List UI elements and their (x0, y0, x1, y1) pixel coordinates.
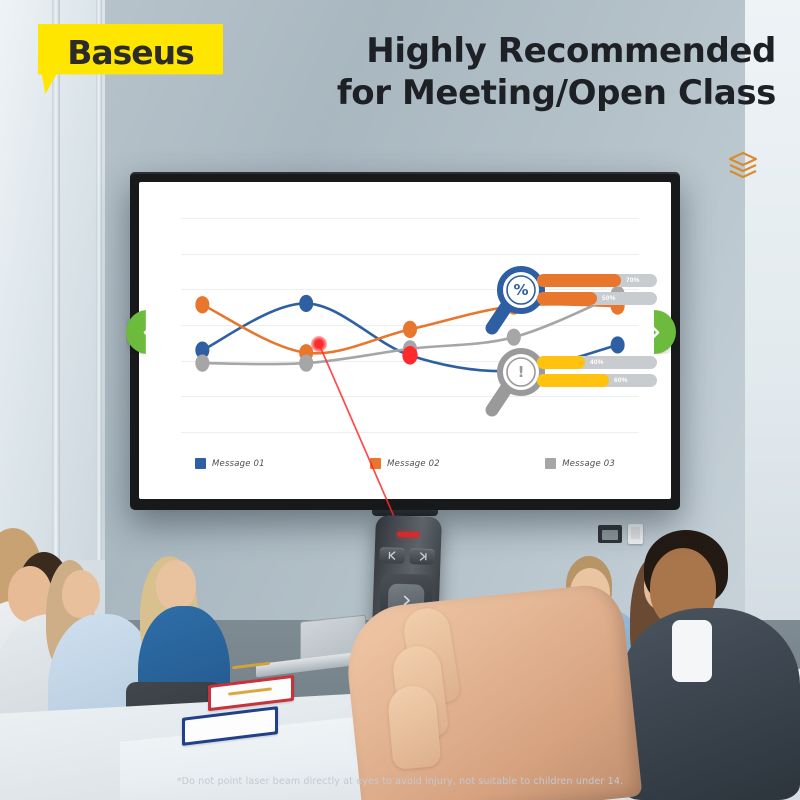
window-mullion-a (52, 0, 60, 560)
legend-label: Message 02 (387, 459, 440, 469)
wall-light-switch (628, 524, 643, 544)
legend-label: Message 01 (212, 459, 265, 469)
legend-swatch (195, 458, 206, 469)
display-screen: Message 01Message 02Message 03 %70%50%!4… (139, 182, 671, 499)
headline-line-2: for Meeting/Open Class (256, 72, 776, 114)
laser-target-dot (311, 336, 327, 352)
progress-bar-group: 40%60% (537, 356, 657, 392)
progress-bar-label: 50% (602, 292, 616, 305)
chart-legend: Message 01Message 02Message 03 (187, 458, 631, 469)
magnifier-inner-glyph: % (507, 274, 535, 306)
progress-bar-track: 50% (537, 292, 657, 305)
legend-item[interactable]: Message 02 (370, 458, 440, 469)
progress-bar-group: 70%50% (537, 274, 657, 310)
chart-data-point (403, 321, 417, 338)
head (62, 570, 100, 618)
progress-bar-fill (537, 274, 621, 287)
progress-bar-label: 60% (614, 374, 628, 387)
legend-swatch (545, 458, 556, 469)
presentation-slide: Message 01Message 02Message 03 %70%50%!4… (139, 182, 671, 499)
chart-data-point (299, 295, 313, 312)
progress-bar-fill (537, 292, 597, 305)
progress-bar-fill (537, 374, 609, 387)
ring-finger (387, 684, 442, 770)
progress-bar-label: 70% (626, 274, 640, 287)
progress-bar-fill (537, 356, 585, 369)
prev-slide-button[interactable] (379, 547, 405, 564)
progress-bar-label: 40% (590, 356, 604, 369)
magnifier-inner-glyph: ! (507, 356, 535, 388)
prev-icon (386, 551, 398, 560)
stats-panel: %70%50%!40%60% (485, 260, 657, 424)
progress-bar-track: 60% (537, 374, 657, 387)
chart-highlight-point (402, 346, 417, 365)
legend-swatch (370, 458, 381, 469)
laser-emitter-led (397, 532, 419, 538)
stats-row: !40%60% (485, 342, 657, 424)
hand-holding-remote (342, 582, 643, 800)
safety-disclaimer: *Do not point laser beam directly at eye… (0, 776, 800, 787)
stats-row: %70%50% (485, 260, 657, 342)
legend-label: Message 03 (562, 459, 615, 469)
shirt-collar (672, 620, 712, 682)
progress-bar-track: 40% (537, 356, 657, 369)
chart-data-point (195, 355, 209, 372)
page-title: Highly Recommended for Meeting/Open Clas… (256, 30, 776, 114)
wall-display: Message 01Message 02Message 03 %70%50%!4… (130, 172, 680, 510)
chart-data-point (299, 355, 313, 372)
chart-data-point (195, 296, 209, 313)
layers-glyph (726, 150, 760, 180)
window-mullion-b (96, 0, 102, 560)
stacked-layers-icon (726, 150, 760, 180)
head (156, 560, 196, 610)
next-icon (416, 552, 428, 561)
legend-item[interactable]: Message 03 (545, 458, 615, 469)
legend-item[interactable]: Message 01 (195, 458, 265, 469)
promo-banner: Message 01Message 02Message 03 %70%50%!4… (0, 0, 800, 800)
progress-bar-track: 70% (537, 274, 657, 287)
next-slide-button[interactable] (409, 548, 435, 565)
brand-logo-text: Baseus (67, 33, 194, 72)
wall-socket-plate (598, 525, 622, 543)
headline-line-1: Highly Recommended (256, 30, 776, 72)
